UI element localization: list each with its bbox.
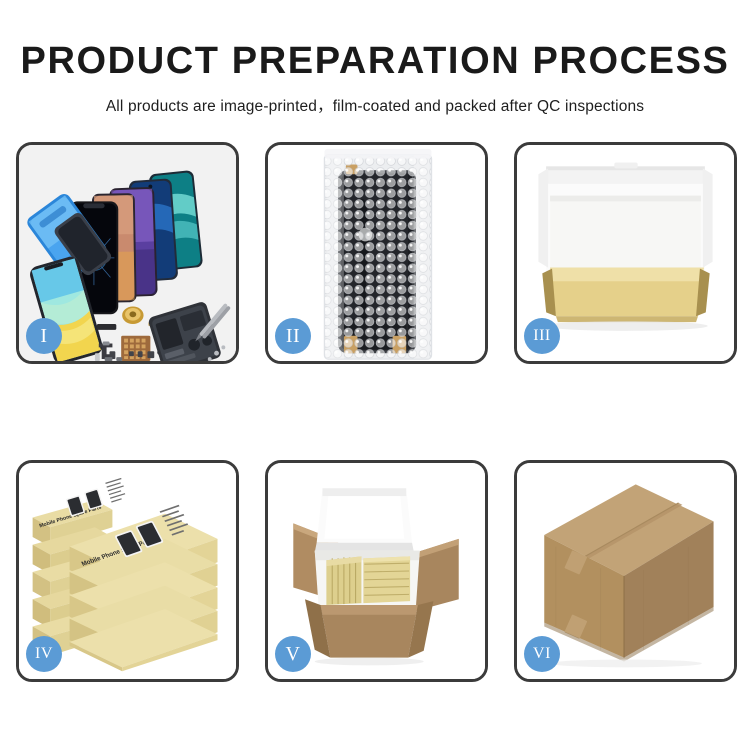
process-step-panel-6: VI <box>514 460 737 682</box>
process-step-panel-4: Mobile Phone Spare Parts <box>16 460 239 682</box>
page-header: PRODUCT PREPARATION PROCESS All products… <box>0 0 750 128</box>
step-badge-4: IV <box>26 636 62 672</box>
step-badge-6: VI <box>524 636 560 672</box>
process-step-panel-2: II <box>265 142 488 364</box>
process-step-grid: I <box>14 140 736 685</box>
step-badge-5: V <box>275 636 311 672</box>
step-badge-2: II <box>275 318 311 354</box>
process-step-panel-1: I <box>16 142 239 364</box>
process-step-panel-3: III <box>514 142 737 364</box>
process-step-panel-5: V <box>265 460 488 682</box>
step-badge-1: I <box>26 318 62 354</box>
page-subtitle: All products are image-printed，film-coat… <box>0 82 750 116</box>
step-badge-3: III <box>524 318 560 354</box>
page-title: PRODUCT PREPARATION PROCESS <box>0 0 750 82</box>
